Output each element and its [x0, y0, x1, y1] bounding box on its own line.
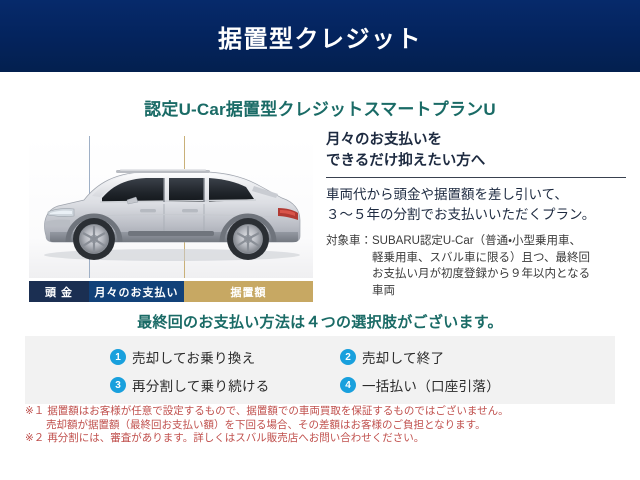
option-item-4[interactable]: 4 一括払い（口座引落）	[340, 372, 570, 398]
option-label-3: 再分割して乗り続ける	[132, 375, 270, 395]
footnote-1-mark: ※１	[25, 405, 47, 419]
segment-monthly-payment-label: 月々のお支払い	[95, 284, 179, 300]
eligible-vehicles-line-4: 車両	[372, 283, 590, 300]
option-label-1: 売却してお乗り換え	[132, 347, 255, 367]
segment-down-payment: 頭 金	[29, 281, 89, 302]
option-item-1[interactable]: 1 売却してお乗り換え	[110, 344, 340, 370]
eligible-vehicles-line-2: 軽乗用車、スバル車に限る）且つ、最終回	[372, 250, 590, 267]
footnote-2: ※２ 再分割には、審査があります。詳しくはスバル販売店へお問い合わせください。	[25, 432, 625, 446]
car-cost-breakdown-figure: 頭 金 月々のお支払い 据置額	[29, 136, 313, 302]
option-item-3[interactable]: 3 再分割して乗り続ける	[110, 372, 340, 398]
plan-benefit-heading: 月々のお支払いを できるだけ抑えたい方へ	[326, 130, 626, 177]
footnote-1-line2: 売却額が据置額（最終回お支払い額）を下回る場合、その差額はお客様のご負担となりま…	[25, 419, 625, 433]
option-label-2: 売却して終了	[362, 347, 444, 367]
plan-benefit-heading-line2: できるだけ抑えたい方へ	[326, 151, 626, 172]
option-number-badge-1: 1	[110, 349, 126, 365]
footnote-2-line1: 再分割には、審査があります。詳しくはスバル販売店へお問い合わせください。	[47, 432, 424, 446]
footnotes: ※１ 据置額はお客様が任意で設定するもので、据置額での車両買取を保証するものでは…	[25, 405, 625, 446]
final-payment-options-heading: 最終回のお支払い方法は４つの選択肢がございます。	[0, 311, 640, 332]
options-grid: 1 売却してお乗り換え 2 売却して終了 3 再分割して乗り続ける 4 一括払い…	[110, 344, 600, 398]
footnote-1-line1: 据置額はお客様が任意で設定するもので、据置額での車両買取を保証するものではござい…	[47, 405, 508, 419]
plan-description-line1: 車両代から頭金や据置額を差し引いて、	[326, 185, 626, 205]
option-label-4: 一括払い（口座引落）	[362, 375, 500, 395]
final-payment-options-panel: 1 売却してお乗り換え 2 売却して終了 3 再分割して乗り続ける 4 一括払い…	[25, 336, 615, 404]
segment-residual-value-label: 据置額	[231, 284, 267, 300]
footnote-1: ※１ 据置額はお客様が任意で設定するもので、据置額での車両買取を保証するものでは…	[25, 405, 625, 419]
plan-description-column: 月々のお支払いを できるだけ抑えたい方へ 車両代から頭金や据置額を差し引いて、 …	[326, 130, 626, 299]
eligible-vehicles-text: SUBARU認定U-Car（普通・小型乗用車、 軽乗用車、スバル車に限る）且つ、…	[372, 233, 590, 299]
heading-divider	[326, 177, 626, 178]
footnote-2-mark: ※２	[25, 432, 47, 446]
segment-residual-value: 据置額	[184, 281, 313, 302]
suv-vehicle-illustration	[32, 152, 310, 270]
segment-monthly-payment: 月々のお支払い	[89, 281, 184, 302]
eligible-vehicles-line-1: SUBARU認定U-Car（普通・小型乗用車、	[372, 233, 590, 250]
cost-segment-bar: 頭 金 月々のお支払い 据置額	[29, 281, 313, 302]
option-number-badge-4: 4	[340, 377, 356, 393]
option-number-badge-2: 2	[340, 349, 356, 365]
plan-description-text: 車両代から頭金や据置額を差し引いて、 ３〜５年の分割でお支払いいただくプラン。	[326, 185, 626, 225]
eligible-vehicles-line-3: お支払い月が初度登録から９年以内となる	[372, 266, 590, 283]
option-number-badge-3: 3	[110, 377, 126, 393]
car-photo	[29, 136, 313, 278]
plan-name-heading: 認定U-Car据置型クレジットスマートプランU	[0, 95, 640, 120]
segment-down-payment-label: 頭 金	[45, 284, 73, 300]
plan-benefit-heading-line1: 月々のお支払いを	[326, 130, 626, 151]
page-title: 据置型クレジット	[0, 0, 640, 72]
eligible-vehicles-label: 対象車：	[326, 233, 372, 299]
eligible-vehicles-block: 対象車： SUBARU認定U-Car（普通・小型乗用車、 軽乗用車、スバル車に限…	[326, 233, 626, 299]
plan-description-line2: ３〜５年の分割でお支払いいただくプラン。	[326, 205, 626, 225]
option-item-2[interactable]: 2 売却して終了	[340, 344, 570, 370]
